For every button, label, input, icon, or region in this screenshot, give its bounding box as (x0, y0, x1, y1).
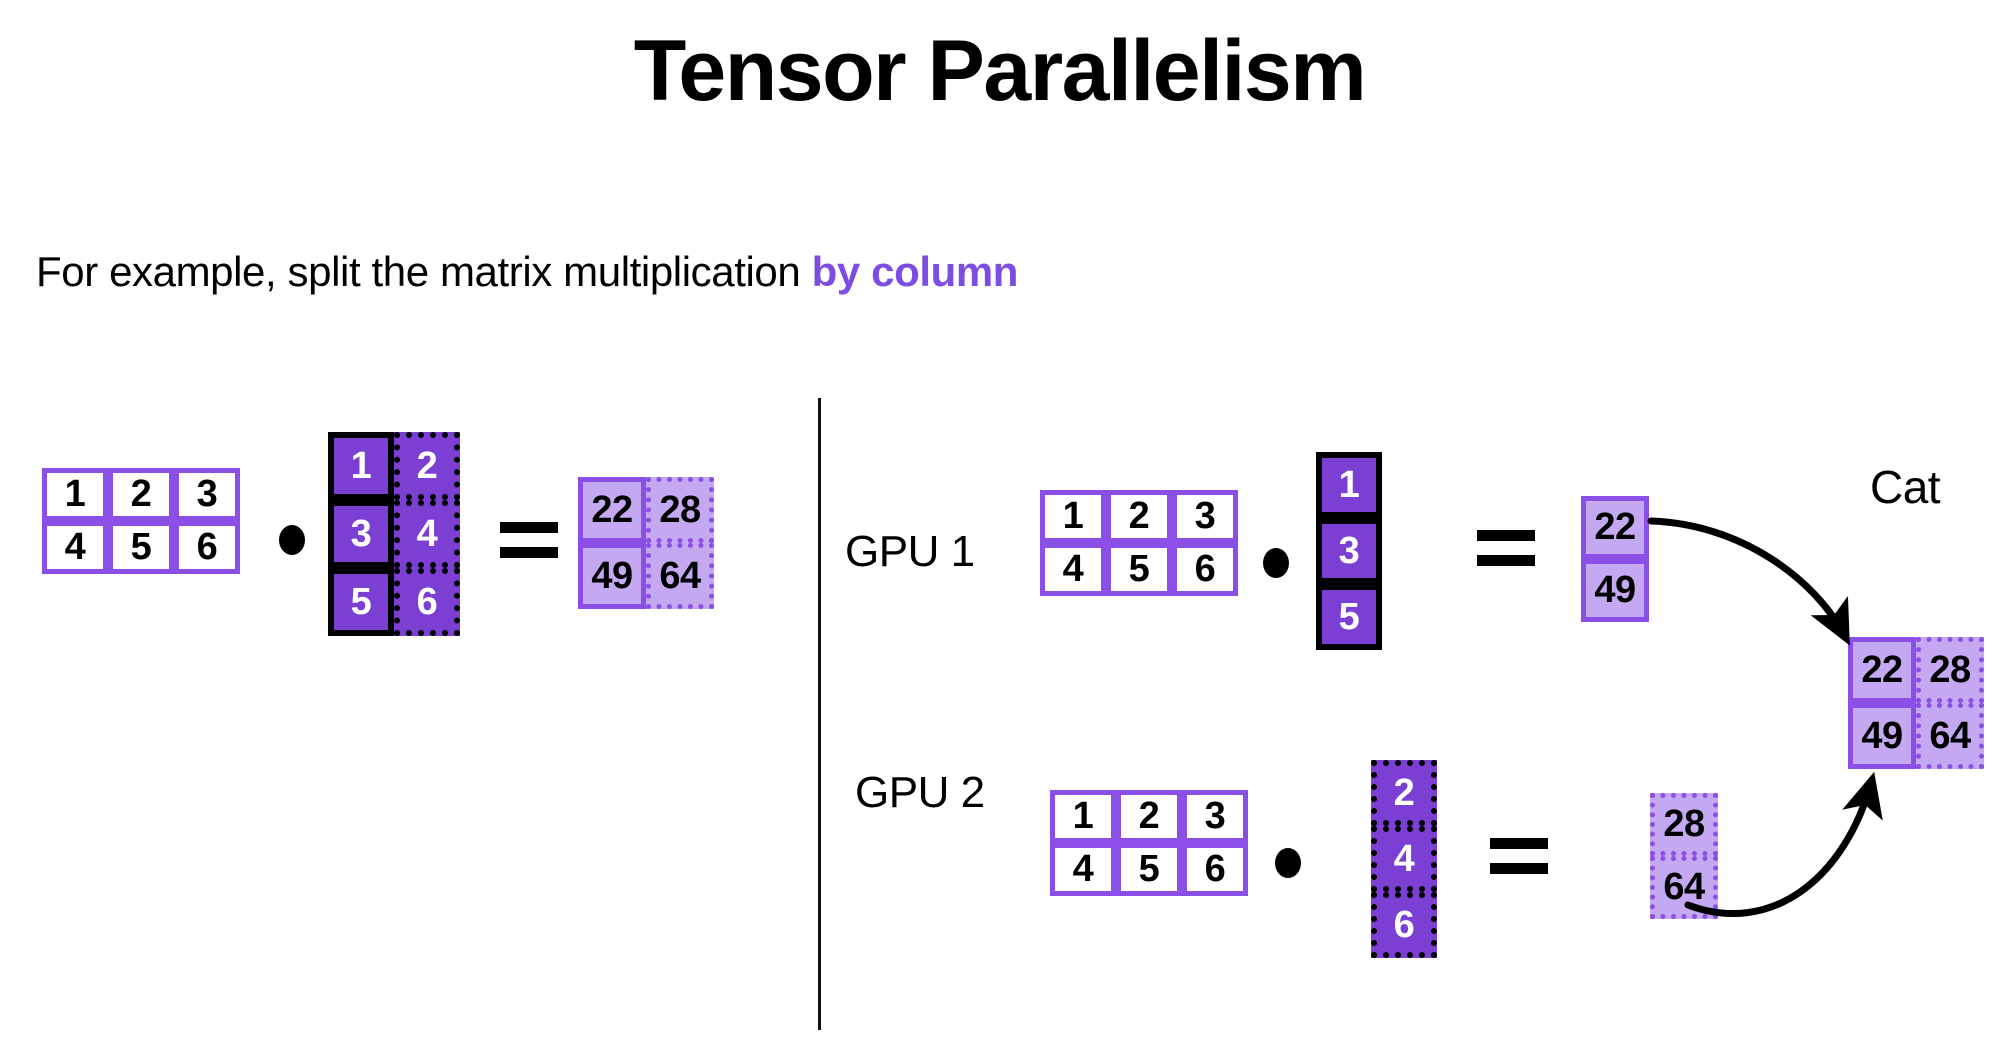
matrix-cell: 6 (394, 568, 460, 636)
matrix-cell: 28 (1916, 637, 1984, 703)
matrix-cell: 5 (1116, 843, 1182, 896)
matrix-cell: 6 (1371, 892, 1437, 958)
gpu1-operand-b-vector: 1 3 5 (1316, 452, 1382, 650)
matrix-cell: 2 (108, 468, 174, 521)
subtitle-accent-text: by column (812, 248, 1018, 295)
matrix-cell: 6 (1182, 843, 1248, 896)
matrix-cell: 1 (1040, 490, 1106, 543)
matrix-cell: 5 (1106, 543, 1172, 596)
vertical-divider (818, 398, 821, 1030)
matrix-cell: 1 (1050, 790, 1116, 843)
matrix-cell: 2 (394, 432, 460, 500)
matrix-cell: 1 (1316, 452, 1382, 518)
matrix-cell: 2 (1371, 760, 1437, 826)
matrix-cell: 64 (1916, 703, 1984, 769)
matrix-cell: 5 (108, 521, 174, 574)
equals-operator-icon (1490, 838, 1548, 876)
dot-product-operator-icon (279, 525, 305, 555)
matrix-cell: 49 (1848, 703, 1916, 769)
matrix-cell: 5 (1316, 584, 1382, 650)
matrix-cell: 3 (1182, 790, 1248, 843)
gpu1-result-vector: 22 49 (1581, 496, 1649, 622)
left-operand-a-matrix: 1 2 3 4 5 6 (42, 468, 240, 574)
matrix-cell: 22 (578, 477, 646, 543)
matrix-cell: 64 (1650, 856, 1718, 919)
matrix-cell: 22 (1581, 496, 1649, 559)
matrix-cell: 4 (394, 500, 460, 568)
concat-result-matrix: 22 28 49 64 (1848, 637, 1984, 769)
matrix-cell: 49 (578, 543, 646, 609)
matrix-cell: 5 (328, 568, 394, 636)
matrix-cell: 64 (646, 543, 714, 609)
matrix-cell: 28 (646, 477, 714, 543)
left-operand-b-matrix: 1 2 3 4 5 6 (328, 432, 460, 636)
page-title: Tensor Parallelism (0, 28, 1999, 114)
gpu2-result-vector: 28 64 (1650, 793, 1718, 919)
matrix-cell: 3 (174, 468, 240, 521)
matrix-cell: 2 (1116, 790, 1182, 843)
gpu1-to-concat-arrow (1651, 521, 1846, 638)
concat-label: Cat (1870, 460, 1940, 514)
matrix-cell: 3 (328, 500, 394, 568)
matrix-cell: 3 (1316, 518, 1382, 584)
matrix-cell: 2 (1106, 490, 1172, 543)
matrix-cell: 4 (1040, 543, 1106, 596)
matrix-cell: 4 (42, 521, 108, 574)
matrix-cell: 49 (1581, 559, 1649, 622)
gpu2-operand-b-vector: 2 4 6 (1371, 760, 1437, 958)
matrix-cell: 6 (1172, 543, 1238, 596)
matrix-cell: 4 (1050, 843, 1116, 896)
subtitle: For example, split the matrix multiplica… (36, 248, 1018, 296)
dot-product-operator-icon (1275, 848, 1301, 878)
matrix-cell: 28 (1650, 793, 1718, 856)
left-result-matrix: 22 28 49 64 (578, 477, 714, 609)
matrix-cell: 1 (328, 432, 394, 500)
dot-product-operator-icon (1263, 548, 1289, 578)
matrix-cell: 3 (1172, 490, 1238, 543)
matrix-cell: 22 (1848, 637, 1916, 703)
equals-operator-icon (500, 522, 558, 560)
gpu2-operand-a-matrix: 1 2 3 4 5 6 (1050, 790, 1248, 896)
gpu1-label: GPU 1 (845, 527, 975, 577)
subtitle-plain-text: For example, split the matrix multiplica… (36, 248, 812, 295)
gpu1-operand-a-matrix: 1 2 3 4 5 6 (1040, 490, 1238, 596)
matrix-cell: 6 (174, 521, 240, 574)
matrix-cell: 4 (1371, 826, 1437, 892)
equals-operator-icon (1477, 530, 1535, 568)
matrix-cell: 1 (42, 468, 108, 521)
gpu2-label: GPU 2 (855, 768, 985, 818)
